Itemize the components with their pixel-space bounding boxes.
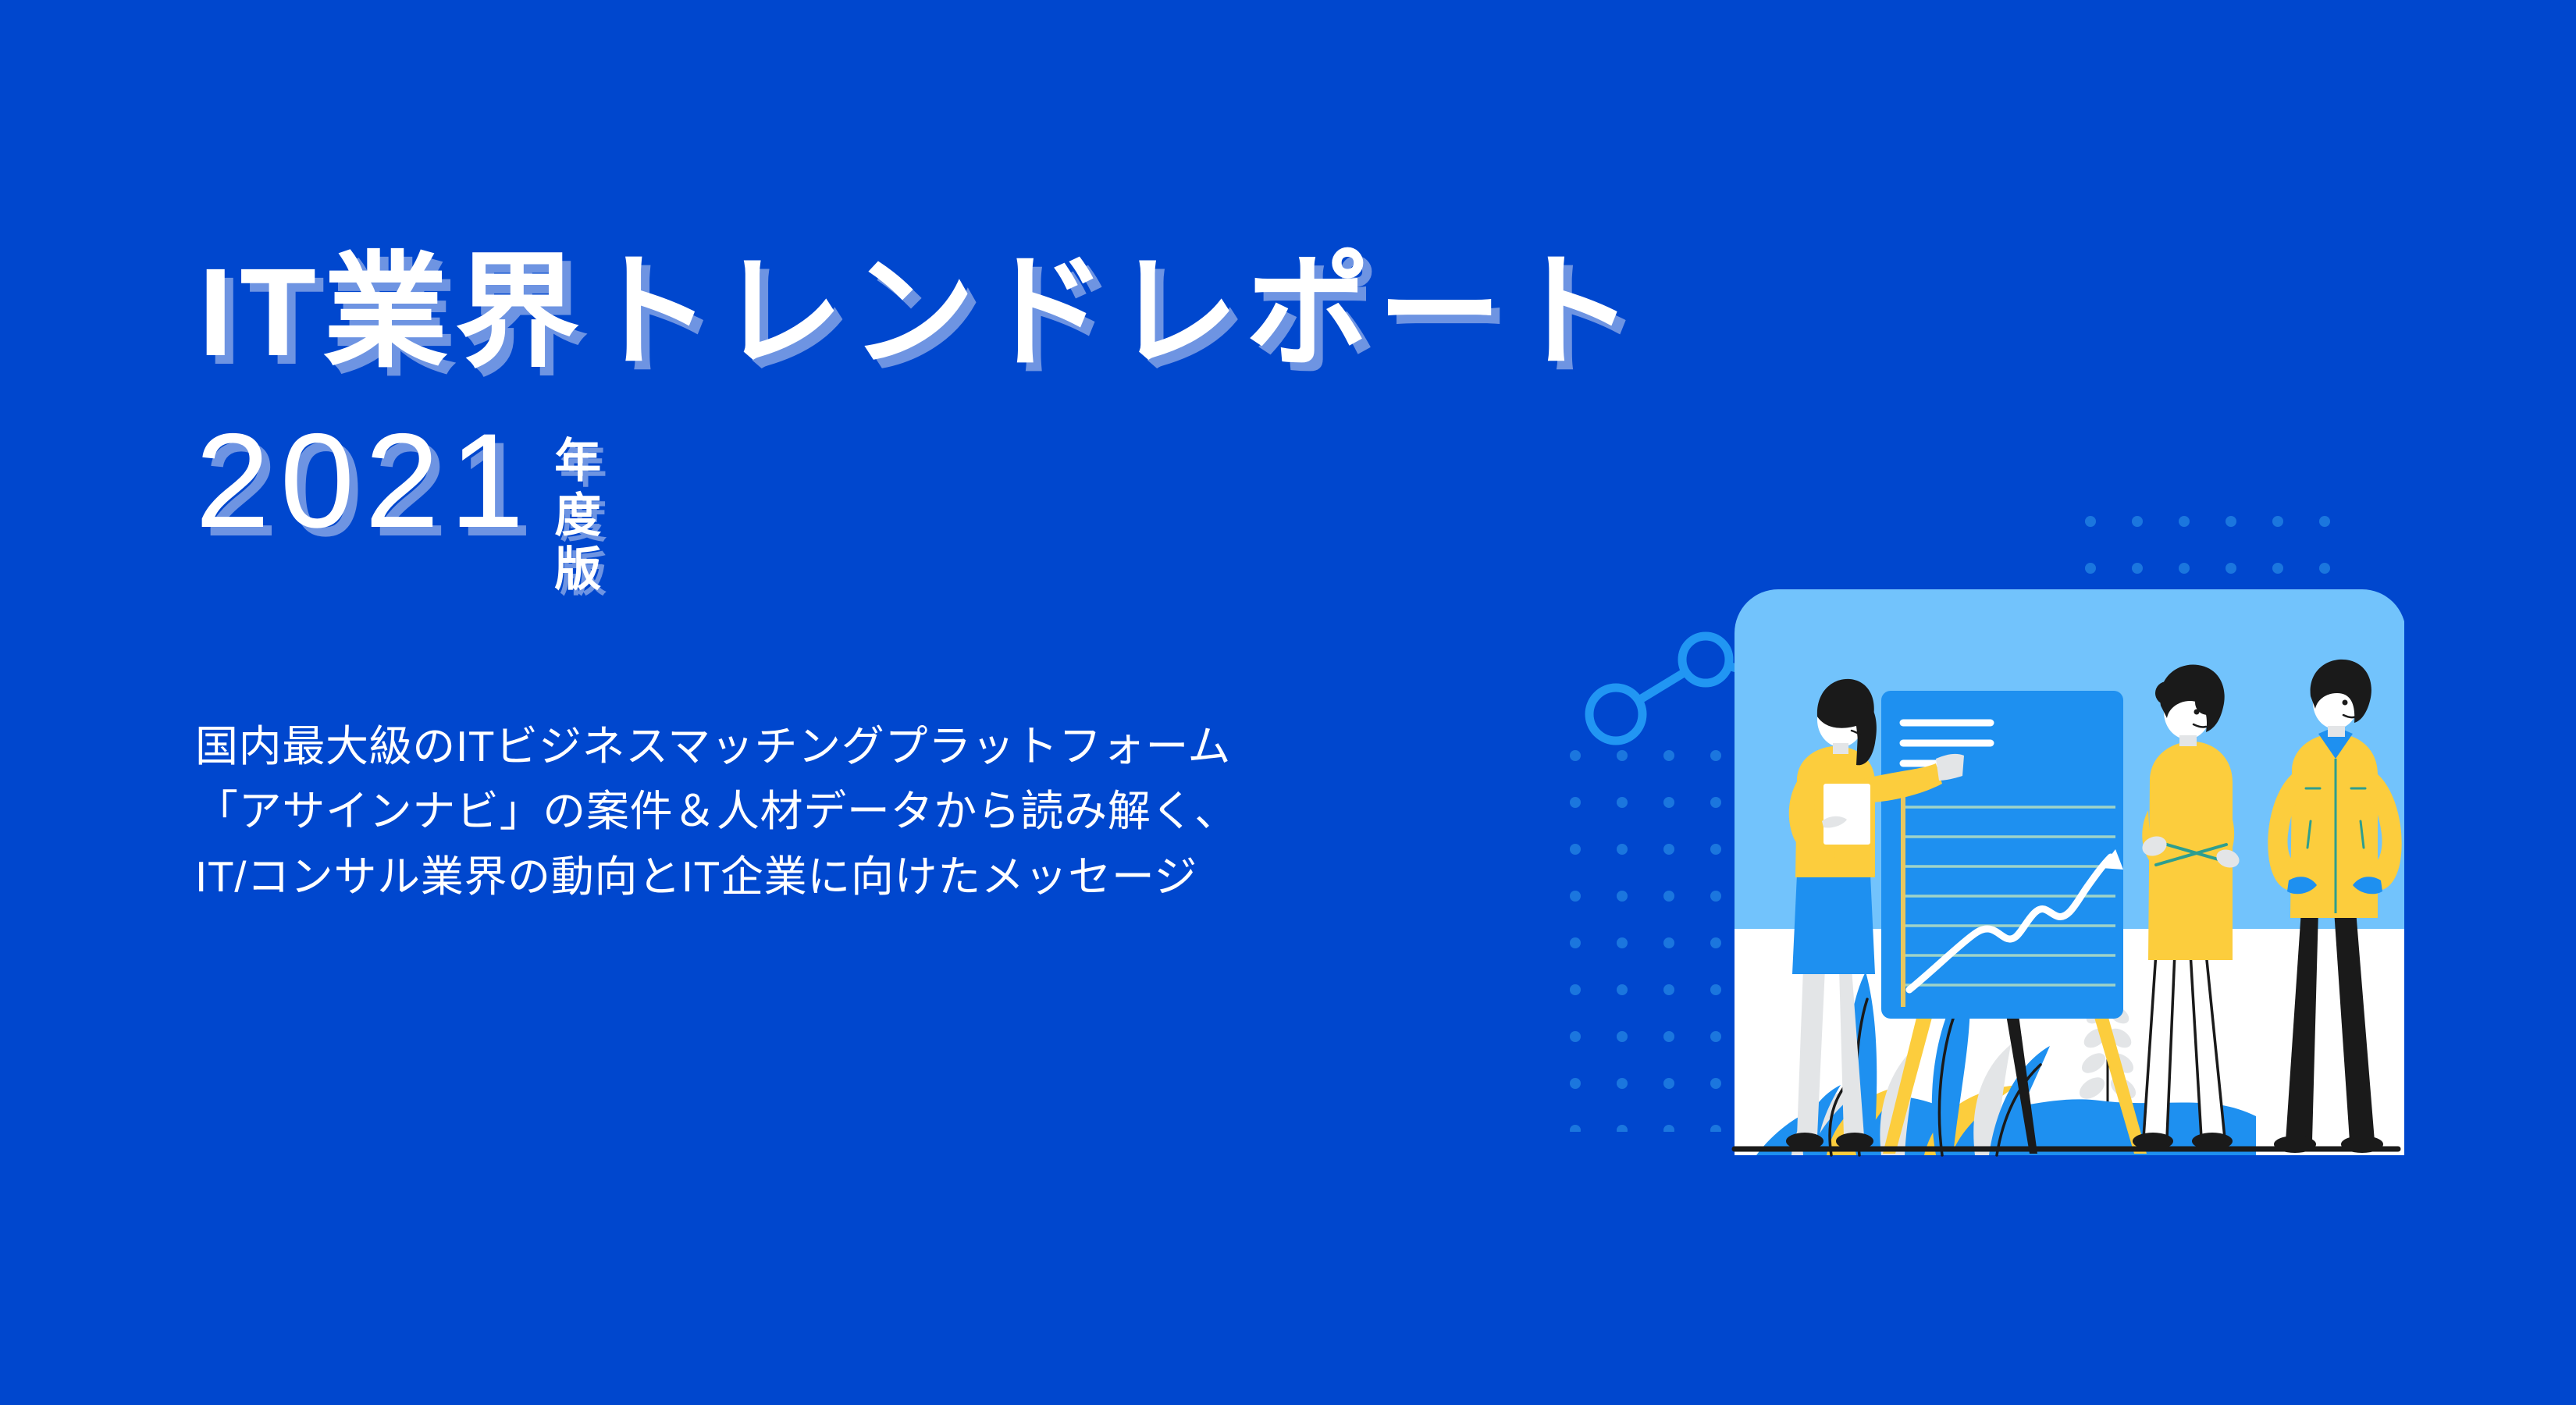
year-number: 2021 — [195, 415, 534, 547]
year-suffix-char-nen: 年 — [554, 434, 601, 489]
page-title: IT業界トレンドレポート — [198, 250, 1600, 375]
year-row: 2021 年 度 版 — [195, 415, 1600, 597]
hero-banner: IT業界トレンドレポート 2021 年 度 版 国内最大級のITビジネスマッチン… — [0, 0, 2576, 1405]
hero-illustration — [1569, 468, 2404, 1171]
hero-text-column: IT業界トレンドレポート 2021 年 度 版 国内最大級のITビジネスマッチン… — [195, 250, 1600, 910]
year-suffix-char-do: 度 — [554, 489, 601, 543]
subtitle-block: 国内最大級のITビジネスマッチングプラットフォーム 「アサインナビ」の案件＆人材… — [195, 714, 1600, 910]
subtitle-line-1: 国内最大級のITビジネスマッチングプラットフォーム — [195, 714, 1600, 780]
subtitle-line-2: 「アサインナビ」の案件＆人材データから読み解く、 — [195, 779, 1600, 845]
year-suffix-char-ban: 版 — [554, 542, 601, 597]
subtitle-line-3: IT/コンサル業界の動向とIT企業に向けたメッセージ — [195, 845, 1600, 910]
year-suffix-vertical: 年 度 版 — [554, 434, 601, 597]
